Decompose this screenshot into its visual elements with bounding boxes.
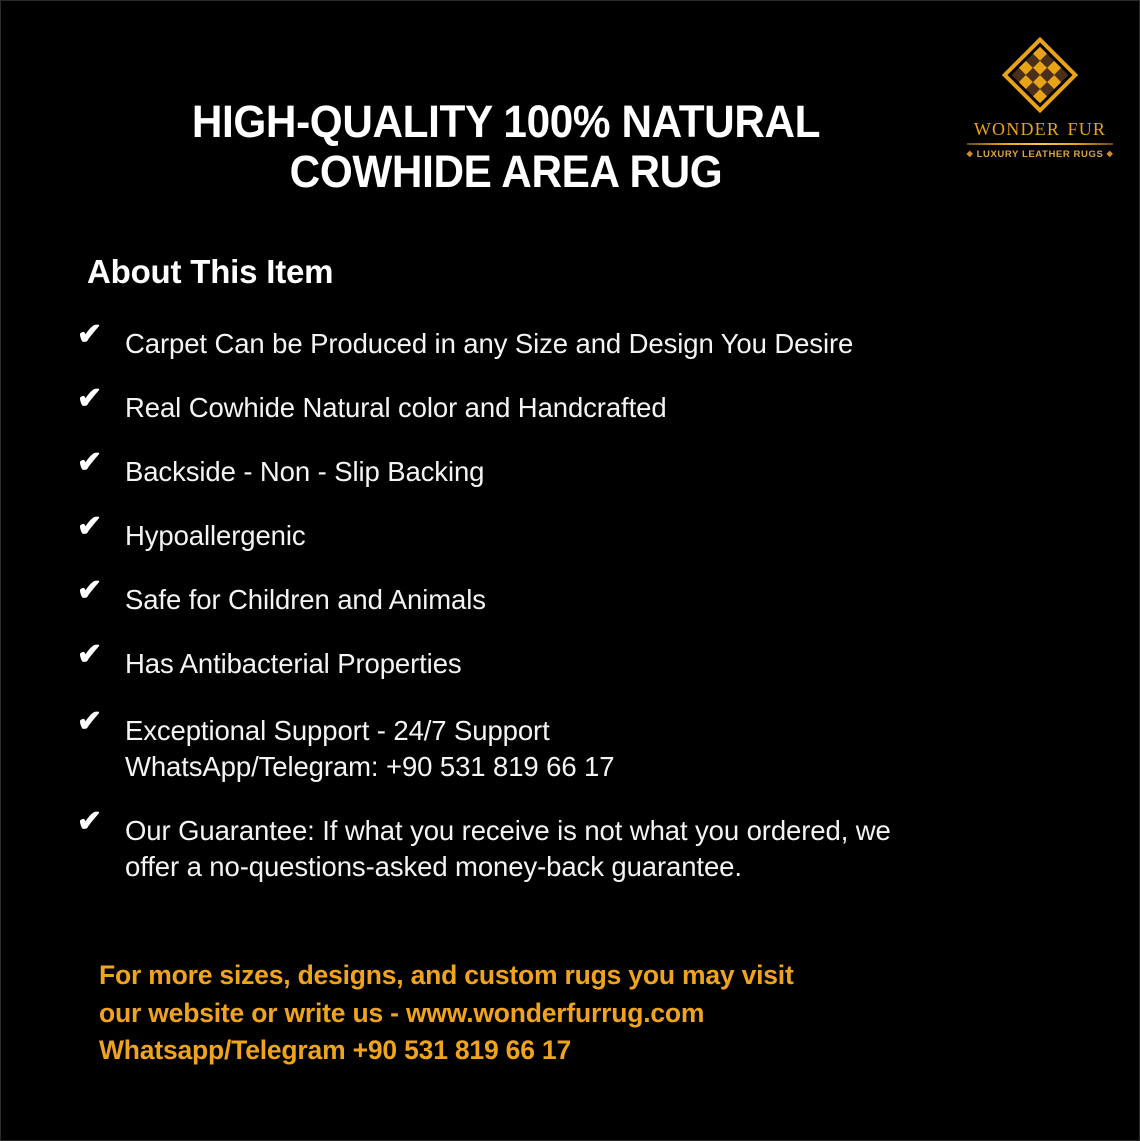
checkmark-icon: ✔ bbox=[77, 807, 102, 837]
list-item-label: Real Cowhide Natural color and Handcraft… bbox=[125, 392, 667, 423]
list-item: ✔ Backside - Non - Slip Backing bbox=[69, 454, 1079, 494]
list-item-label: Hypoallergenic bbox=[125, 520, 306, 551]
list-item-label: Our Guarantee: If what you receive is no… bbox=[125, 815, 891, 882]
logo-tagline: ◆ LUXURY LEATHER RUGS ◆ bbox=[967, 149, 1114, 160]
list-item: ✔ Hypoallergenic bbox=[69, 518, 1079, 558]
list-item-support: ✔ Exceptional Support - 24/7 Support Wha… bbox=[69, 713, 1079, 786]
list-item: ✔ Has Antibacterial Properties bbox=[69, 646, 1079, 686]
list-item-label: Exceptional Support - 24/7 Support Whats… bbox=[125, 715, 614, 782]
brand-logo: Wonder Fur ◆ LUXURY LEATHER RUGS ◆ bbox=[964, 37, 1116, 162]
list-item-label: Backside - Non - Slip Backing bbox=[125, 456, 484, 487]
footer-contact-text: For more sizes, designs, and custom rugs… bbox=[99, 957, 1079, 1070]
logo-tagline-text: LUXURY LEATHER RUGS bbox=[977, 149, 1104, 160]
product-info-card: Wonder Fur ◆ LUXURY LEATHER RUGS ◆ HIGH-… bbox=[0, 0, 1140, 1141]
list-item-label: Has Antibacterial Properties bbox=[125, 648, 462, 679]
checkmark-icon: ✔ bbox=[77, 384, 102, 414]
checkerboard-diamond-icon bbox=[1002, 37, 1078, 113]
checkmark-icon: ✔ bbox=[77, 576, 102, 606]
about-this-item-heading: About This Item bbox=[87, 253, 333, 291]
logo-divider bbox=[967, 143, 1113, 145]
logo-wordmark: Wonder Fur bbox=[974, 115, 1106, 140]
diamond-bullet-icon: ◆ bbox=[1107, 149, 1114, 158]
list-item-label: Safe for Children and Animals bbox=[125, 584, 486, 615]
feature-list: ✔ Carpet Can be Produced in any Size and… bbox=[69, 326, 1079, 909]
diamond-bullet-icon: ◆ bbox=[967, 149, 974, 158]
list-item: ✔ Carpet Can be Produced in any Size and… bbox=[69, 326, 1079, 366]
checkmark-icon: ✔ bbox=[77, 320, 102, 350]
checkmark-icon: ✔ bbox=[77, 512, 102, 542]
checkmark-icon: ✔ bbox=[77, 707, 102, 737]
checkmark-icon: ✔ bbox=[77, 448, 102, 478]
page-title: HIGH-QUALITY 100% NATURAL COWHIDE AREA R… bbox=[135, 97, 878, 198]
list-item: ✔ Real Cowhide Natural color and Handcra… bbox=[69, 390, 1079, 430]
list-item-label: Carpet Can be Produced in any Size and D… bbox=[125, 328, 853, 359]
checkmark-icon: ✔ bbox=[77, 640, 102, 670]
list-item: ✔ Safe for Children and Animals bbox=[69, 582, 1079, 622]
list-item-guarantee: ✔ Our Guarantee: If what you receive is … bbox=[69, 813, 1079, 886]
